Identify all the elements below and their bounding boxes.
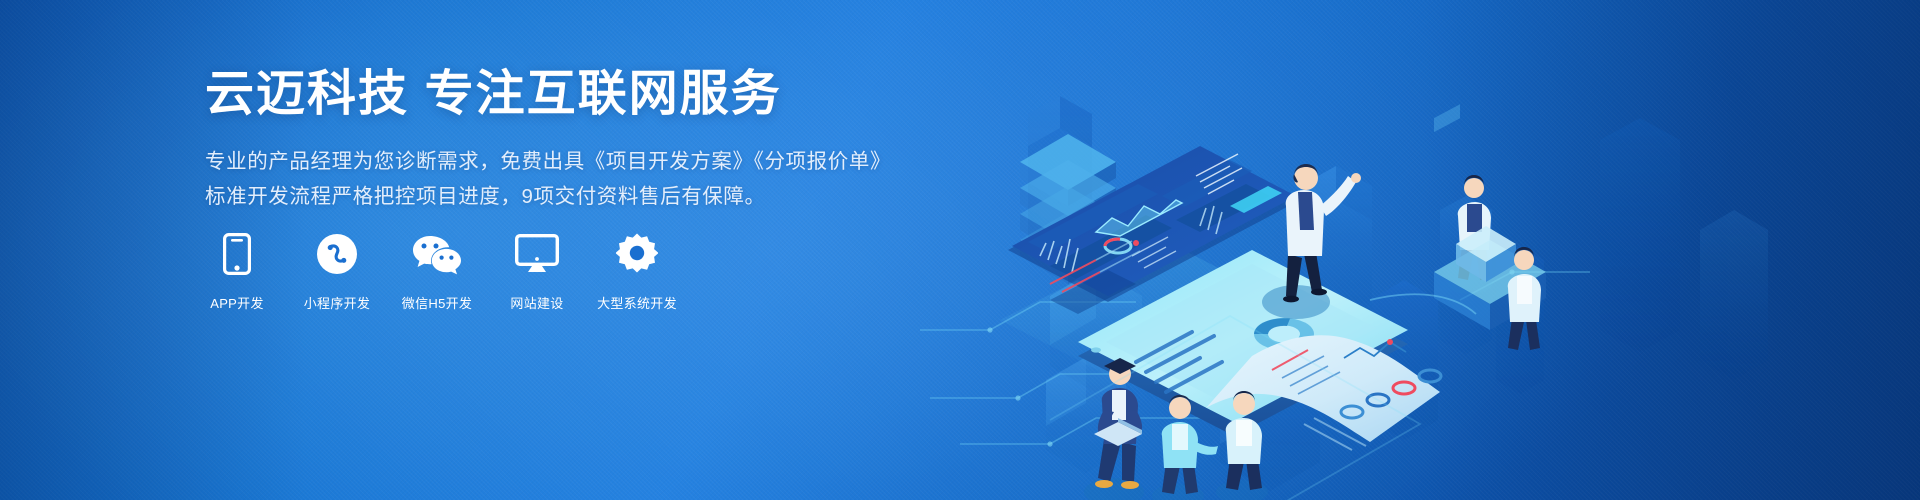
monitor-icon	[515, 232, 559, 276]
banner-copy: 云迈科技 专注互联网服务 专业的产品经理为您诊断需求，免费出具《项目开发方案》《…	[205, 66, 905, 214]
service-label: 大型系统开发	[597, 293, 677, 312]
service-item-large-system[interactable]: 大型系统开发	[600, 232, 674, 312]
wechat-icon	[412, 232, 462, 276]
service-list: APP开发 小程序开发	[200, 232, 674, 312]
service-item-website[interactable]: 网站建设	[500, 232, 574, 312]
subtitle-line-1: 专业的产品经理为您诊断需求，免费出具《项目开发方案》《分项报价单》	[205, 144, 905, 179]
hero-illustration	[900, 0, 1920, 500]
gear-icon	[616, 232, 658, 276]
service-item-wechat-h5[interactable]: 微信H5开发	[400, 232, 474, 312]
service-label: 小程序开发	[304, 293, 371, 312]
subtitle-block: 专业的产品经理为您诊断需求，免费出具《项目开发方案》《分项报价单》 标准开发流程…	[205, 144, 905, 214]
subtitle-line-2: 标准开发流程严格把控项目进度，9项交付资料售后有保障。	[205, 179, 905, 214]
service-label: 微信H5开发	[402, 293, 472, 312]
page-title: 云迈科技 专注互联网服务	[205, 66, 905, 122]
promo-banner: 云迈科技 专注互联网服务 专业的产品经理为您诊断需求，免费出具《项目开发方案》《…	[0, 0, 1920, 500]
service-item-miniprogram[interactable]: 小程序开发	[300, 232, 374, 312]
mobile-phone-icon	[223, 232, 251, 276]
service-label: 网站建设	[510, 293, 563, 312]
service-item-app[interactable]: APP开发	[200, 232, 274, 312]
mini-program-icon	[316, 232, 358, 276]
service-label: APP开发	[210, 293, 264, 312]
